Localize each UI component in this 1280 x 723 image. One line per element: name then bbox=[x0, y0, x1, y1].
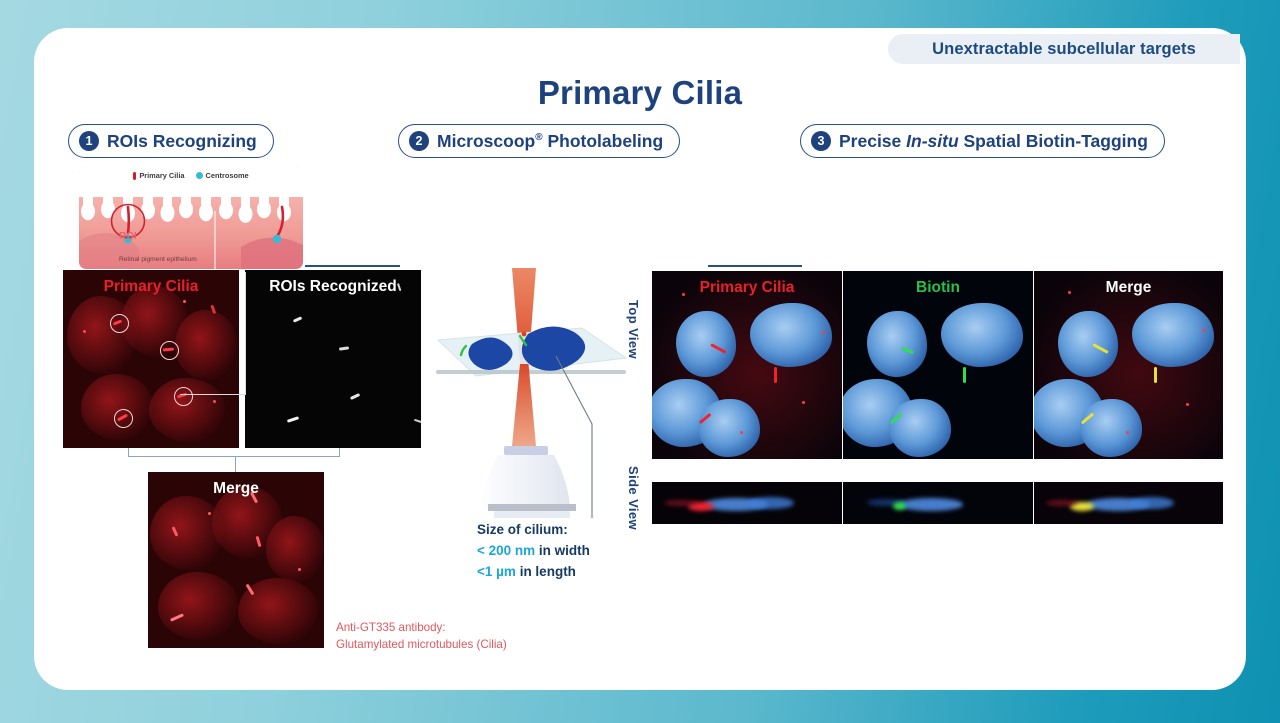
roi-circle bbox=[114, 409, 133, 428]
roi-circle bbox=[174, 387, 193, 406]
step-pill-3[interactable]: 3 Precise In-situ Spatial Biotin-Tagging bbox=[800, 124, 1165, 158]
topview-biotin: Biotin bbox=[843, 271, 1033, 459]
cell-field bbox=[148, 472, 324, 648]
step-number-badge-3: 3 bbox=[811, 131, 831, 151]
cell-field bbox=[1034, 271, 1223, 459]
legend-item-primary-cilia: Primary Cilia bbox=[133, 171, 184, 180]
step-pill-2[interactable]: 2 Microscoop® Photolabeling bbox=[398, 124, 680, 158]
topview-primary-cilia: Primary Cilia bbox=[652, 271, 842, 459]
size-line-2: <1 µm in length bbox=[477, 561, 657, 582]
panel-caption: Primary Cilia bbox=[63, 278, 239, 296]
sideview-merge bbox=[1034, 482, 1223, 524]
cilia-marker-icon bbox=[133, 172, 136, 180]
step-flow: 1 ROIs Recognizing 2 Microscoop® Photola… bbox=[0, 124, 1280, 160]
antibody-line-2: Glutamylated microtubules (Cilia) bbox=[336, 637, 596, 654]
cell-field bbox=[652, 271, 842, 459]
cell-field bbox=[63, 270, 239, 448]
roi-annotation: ROI bbox=[119, 231, 137, 242]
header-ribbon: Unextractable subcellular targets bbox=[888, 34, 1240, 64]
panel-caption: Biotin bbox=[843, 279, 1033, 297]
legend-label-cilia: Primary Cilia bbox=[139, 171, 184, 180]
page-title: Primary Cilia bbox=[0, 74, 1280, 112]
topview-merge: Merge bbox=[1034, 271, 1223, 459]
microscope-svg bbox=[432, 266, 632, 518]
microscope-illustration bbox=[432, 266, 632, 518]
centrosome-marker-icon bbox=[196, 172, 203, 179]
step-number-badge-2: 2 bbox=[409, 131, 429, 151]
rpe-legend: Primary Cilia Centrosome bbox=[79, 171, 303, 180]
roi-circle bbox=[160, 341, 179, 360]
micrograph-merge-left: Merge bbox=[148, 472, 324, 648]
panel-caption: Merge bbox=[1034, 279, 1223, 297]
step-connector-2 bbox=[708, 265, 802, 267]
cell-field bbox=[843, 271, 1033, 459]
step-number-badge-1: 1 bbox=[79, 131, 99, 151]
step-label-2: Microscoop® Photolabeling bbox=[437, 131, 663, 152]
size-line-1: < 200 nm in width bbox=[477, 540, 657, 561]
legend-label-centrosome: Centrosome bbox=[206, 171, 249, 180]
antibody-line-1: Anti-GT335 antibody: bbox=[336, 620, 596, 637]
roi-mask-field bbox=[245, 270, 421, 448]
rpe-svg bbox=[79, 167, 303, 269]
roi-circle bbox=[110, 314, 129, 333]
step-connector-1 bbox=[305, 265, 400, 267]
panel-caption: ROIs Recognized bbox=[245, 278, 421, 296]
panel-caption: Merge bbox=[148, 480, 324, 498]
panel-caption: Primary Cilia bbox=[652, 279, 842, 297]
slide: Unextractable subcellular targets Primar… bbox=[0, 0, 1280, 723]
bracket-left-stem bbox=[128, 448, 129, 457]
step-label-1: ROIs Recognizing bbox=[107, 131, 257, 152]
roi-lead-line-horizontal bbox=[180, 394, 246, 395]
tissue-label: Retinal pigment epithelium bbox=[119, 256, 197, 263]
bracket-down-stem bbox=[235, 456, 236, 473]
ribbon-label: Unextractable subcellular targets bbox=[932, 40, 1196, 59]
registered-mark: ® bbox=[535, 132, 542, 143]
micrograph-primary-cilia: Primary Cilia bbox=[63, 270, 239, 448]
legend-item-centrosome: Centrosome bbox=[196, 171, 249, 180]
step-label-3: Precise In-situ Spatial Biotin-Tagging bbox=[839, 131, 1148, 152]
row-label-top-view: Top View bbox=[626, 300, 641, 359]
rpe-schematic: Primary Cilia Centrosome ROI Retinal pig… bbox=[79, 167, 303, 269]
row-label-side-view: Side View bbox=[626, 466, 641, 530]
antibody-note: Anti-GT335 antibody: Glutamylated microt… bbox=[336, 620, 596, 653]
bracket-horizontal bbox=[128, 456, 340, 457]
step-pill-1[interactable]: 1 ROIs Recognizing bbox=[68, 124, 274, 158]
sideview-primary-cilia bbox=[652, 482, 842, 524]
micrograph-rois-recognized: ROIs Recognized bbox=[245, 270, 421, 448]
sideview-biotin bbox=[843, 482, 1033, 524]
bracket-right-stem bbox=[339, 448, 340, 457]
